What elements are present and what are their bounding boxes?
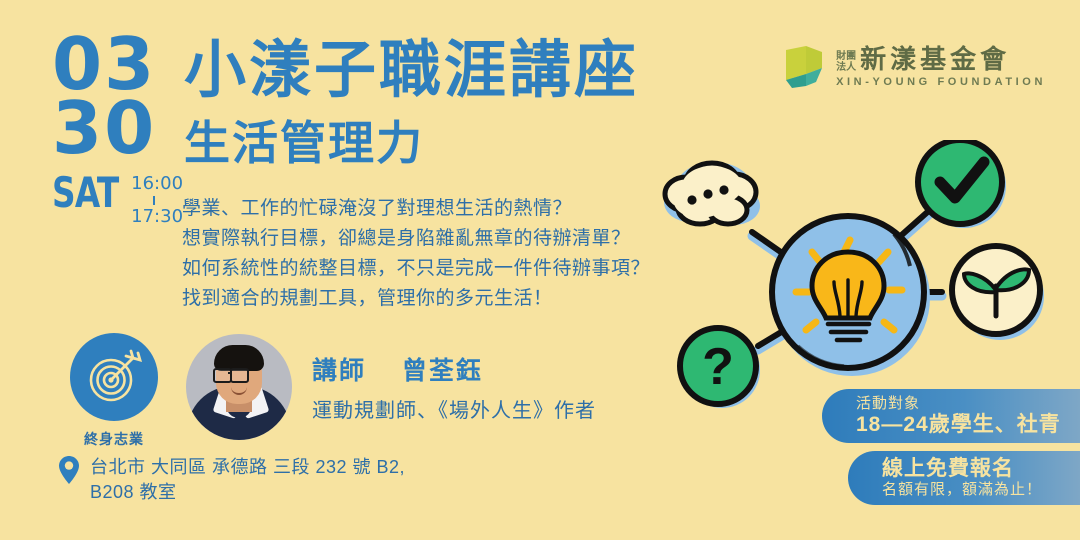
date-block: 03 30 SAT 16:00 17:30 bbox=[52, 32, 182, 227]
mindmap-lightbulb-illustration: ? bbox=[648, 140, 1068, 410]
logo-text: 財團 法人 新漾基金會 XIN-YOUNG FOUNDATION bbox=[836, 46, 1046, 88]
speaker-title-label: 講師 bbox=[312, 357, 366, 385]
svg-text:?: ? bbox=[702, 338, 734, 396]
date-day: 30 bbox=[52, 96, 182, 160]
check-mark-icon bbox=[918, 140, 1002, 224]
time-end: 17:30 bbox=[131, 207, 183, 227]
target-arrow-icon bbox=[70, 333, 158, 421]
speaker-name: 講師 曾荃鈺 bbox=[312, 351, 596, 387]
location-line-1: 台北市 大同區 承德路 三段 232 號 B2, bbox=[90, 455, 405, 480]
time-range: 16:00 17:30 bbox=[131, 174, 183, 227]
registration-badge-title: 線上免費報名 bbox=[882, 457, 1080, 481]
event-poster: 03 30 SAT 16:00 17:30 小漾子職涯講座 生活管理力 學業、工… bbox=[0, 0, 1080, 540]
logo-name-en: XIN-YOUNG FOUNDATION bbox=[836, 76, 1046, 88]
speaker-role: 運動規劃師、《場外人生》作者 bbox=[312, 394, 596, 423]
location-block: 台北市 大同區 承德路 三段 232 號 B2, B208 教室 bbox=[58, 455, 405, 505]
logo-prefix-line-2: 法人 bbox=[836, 62, 856, 73]
registration-badge-note: 名額有限，額滿為止！ bbox=[882, 481, 1080, 499]
description-block: 學業、工作的忙碌淹沒了對理想生活的熱情？ 想實際執行目標，卻總是身陷雜亂無章的待… bbox=[182, 196, 652, 316]
avatar bbox=[186, 334, 292, 440]
avatar-glasses-bridge bbox=[228, 372, 232, 374]
description-line: 如何系統性的統整目標，不只是完成一件件待辦事項？ bbox=[182, 256, 652, 281]
description-line: 學業、工作的忙碌淹沒了對理想生活的熱情？ bbox=[182, 196, 652, 221]
time-start: 16:00 bbox=[131, 174, 183, 194]
lifelong-career-label: 終身志業 bbox=[62, 429, 166, 449]
audience-badge-value: 18—24歲學生、社青 bbox=[856, 413, 1080, 437]
page-subtitle: 生活管理力 bbox=[184, 118, 424, 168]
logo-prefix-line-1: 財團 bbox=[836, 51, 856, 62]
location-text: 台北市 大同區 承德路 三段 232 號 B2, B208 教室 bbox=[90, 455, 405, 505]
registration-badge[interactable]: 線上免費報名 名額有限，額滿為止！ bbox=[848, 451, 1080, 505]
audience-badge-label: 活動對象 bbox=[856, 395, 1080, 413]
description-line: 找到適合的規劃工具，管理你的多元生活！ bbox=[182, 286, 652, 311]
description-line: 想實際執行目標，卻總是身陷雜亂無章的待辦清單？ bbox=[182, 226, 652, 251]
speaker-block: 講師 曾荃鈺 運動規劃師、《場外人生》作者 bbox=[186, 334, 596, 440]
lifelong-career-badge: 終身志業 bbox=[62, 333, 166, 449]
foundation-logo: 財團 法人 新漾基金會 XIN-YOUNG FOUNDATION bbox=[782, 44, 1046, 90]
date-weekday: SAT bbox=[52, 174, 118, 212]
location-line-2: B208 教室 bbox=[90, 480, 405, 505]
avatar-glasses-right bbox=[230, 368, 249, 383]
logo-name-cn: 新漾基金會 bbox=[860, 46, 1010, 73]
page-title: 小漾子職涯講座 bbox=[184, 38, 639, 104]
map-pin-icon bbox=[58, 455, 80, 485]
speaker-name-value: 曾荃鈺 bbox=[402, 357, 483, 385]
speaker-text: 講師 曾荃鈺 運動規劃師、《場外人生》作者 bbox=[312, 351, 596, 423]
leaf-book-logo-icon bbox=[782, 44, 826, 90]
sprout-icon bbox=[952, 246, 1040, 334]
logo-prefix: 財團 法人 bbox=[836, 51, 856, 73]
audience-badge: 活動對象 18—24歲學生、社青 bbox=[822, 389, 1080, 443]
time-separator-dash bbox=[153, 196, 155, 205]
question-mark-icon: ? bbox=[680, 328, 756, 404]
